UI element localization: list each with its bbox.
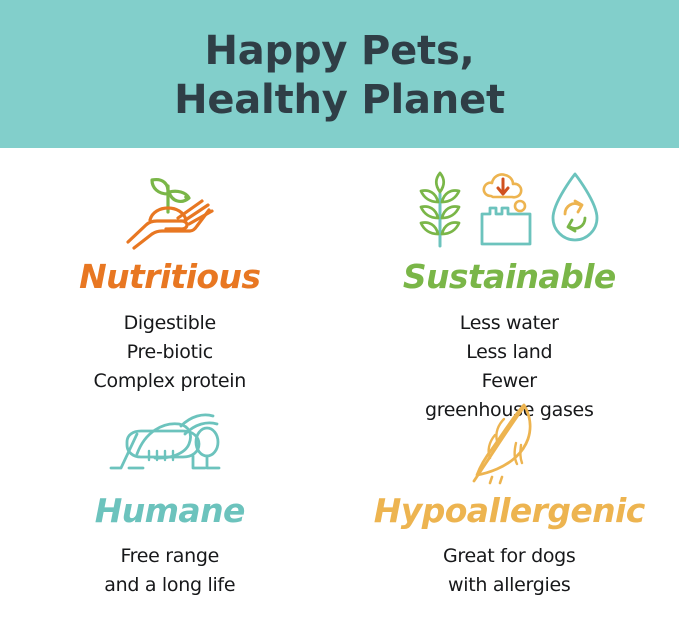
benefit-heading-sustainable: Sustainable (403, 258, 616, 296)
benefit-line: Fewer (425, 367, 594, 396)
icon-area-humane (107, 404, 233, 488)
benefit-heading-humane: Humane (95, 492, 245, 530)
feather-icon (464, 401, 554, 492)
wheat-stalk-icon (412, 170, 468, 255)
benefit-line: Free range (104, 542, 235, 571)
benefit-cell-nutritious: Nutritious Digestible Pre-biotic Complex… (0, 148, 340, 394)
page-title-line-2: Healthy Planet (174, 76, 505, 125)
header-banner: Happy Pets, Healthy Planet (0, 0, 679, 148)
benefit-line: Pre-biotic (94, 338, 246, 367)
icon-area-sustainable (412, 170, 606, 254)
benefit-line: Less land (425, 338, 594, 367)
benefit-line: Great for dogs (443, 542, 576, 571)
benefit-line: Digestible (94, 309, 246, 338)
benefit-line: Less water (425, 309, 594, 338)
benefit-lines-nutritious: Digestible Pre-biotic Complex protein (94, 309, 246, 396)
benefit-line: and a long life (104, 571, 235, 600)
hand-holding-sprout-icon (114, 168, 226, 257)
icon-row-nutritious (114, 168, 226, 257)
icon-area-hypoallergenic (464, 404, 554, 488)
factory-low-emissions-icon (472, 170, 540, 255)
icon-row-hypoallergenic (464, 401, 554, 492)
benefit-lines-hypoallergenic: Great for dogs with allergies (443, 542, 576, 600)
icon-area-nutritious (114, 170, 226, 254)
page-title-line-1: Happy Pets, (204, 27, 474, 76)
infographic-root: Happy Pets, Healthy Planet (0, 0, 679, 640)
icon-row-sustainable (412, 170, 606, 255)
benefit-cell-humane: Humane Free range and a long life (0, 394, 340, 640)
cricket-insect-icon (107, 404, 233, 489)
benefits-grid: Nutritious Digestible Pre-biotic Complex… (0, 148, 679, 640)
benefit-lines-humane: Free range and a long life (104, 542, 235, 600)
benefit-heading-hypoallergenic: Hypoallergenic (374, 492, 645, 530)
benefit-line: Complex protein (94, 367, 246, 396)
benefit-line: with allergies (443, 571, 576, 600)
benefit-heading-nutritious: Nutritious (79, 258, 260, 296)
benefit-cell-sustainable: Sustainable Less water Less land Fewer g… (340, 148, 679, 394)
benefit-cell-hypoallergenic: Hypoallergenic Great for dogs with aller… (340, 394, 679, 640)
water-droplet-recycle-icon (544, 170, 606, 255)
icon-row-humane (107, 404, 233, 489)
